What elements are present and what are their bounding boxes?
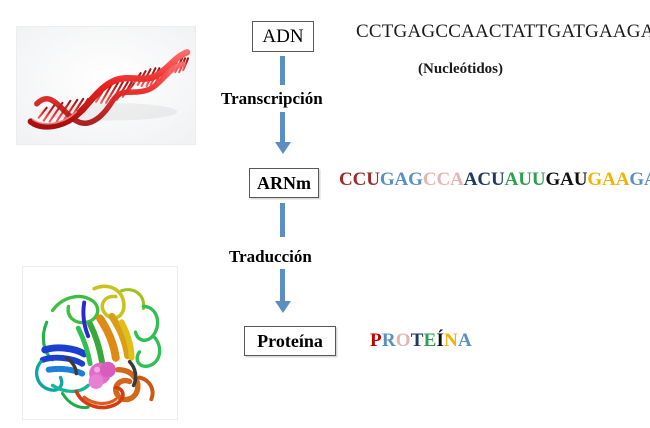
- translation-arrow-shaft-lower: [280, 269, 285, 303]
- node-box-adn[interactable]: ADN: [252, 21, 314, 52]
- mrna-codon-2: CCA: [423, 169, 464, 190]
- protein-letter-1: R: [382, 330, 396, 351]
- protein-letter-3: T: [411, 330, 424, 351]
- protein-colored-word: PROTEÍNA: [370, 331, 472, 350]
- protein-ribbon-illustration: [23, 267, 177, 419]
- protein-letter-7: A: [458, 330, 472, 351]
- mrna-codon-4: AUU: [505, 169, 546, 190]
- mrna-codon-6: GAA: [587, 169, 629, 190]
- mrna-codon-7: GAG: [629, 169, 650, 190]
- mrna-codon-0: CCU: [339, 169, 380, 190]
- dna-double-helix-photo: [16, 26, 196, 145]
- dna-nucleotide-sequence: CCTGAGCCAACTATTGATGAAGAG: [356, 22, 650, 41]
- nucleotidos-caption: (Nucleótidos): [418, 62, 503, 77]
- protein-letter-6: N: [444, 330, 458, 351]
- protein-letter-0: P: [370, 330, 382, 351]
- protein-letter-4: E: [424, 330, 437, 351]
- mrna-codon-sequence: CCUGAGCCAACUAUUGAUGAAGAG: [339, 170, 650, 189]
- mrna-codon-3: ACU: [464, 169, 505, 190]
- translation-arrow-head-icon: [275, 301, 291, 313]
- protein-letter-5: Í: [436, 330, 444, 351]
- step-label-transcripcion: Transcripción: [221, 90, 323, 107]
- translation-arrow-shaft-upper: [280, 203, 285, 237]
- protein-letter-2: O: [396, 330, 411, 351]
- node-box-proteina[interactable]: Proteína: [244, 326, 336, 356]
- node-box-arnm[interactable]: ARNm: [249, 168, 319, 198]
- transcription-arrow-shaft-lower: [280, 112, 285, 144]
- protein-ribbon-structure-photo: [22, 266, 178, 420]
- mrna-codon-1: GAG: [380, 169, 423, 190]
- transcription-arrow-shaft-upper: [280, 56, 285, 85]
- mrna-codon-5: GAU: [545, 169, 587, 190]
- step-label-traduccion: Traducción: [229, 248, 312, 265]
- transcription-arrow-head-icon: [275, 142, 291, 154]
- dna-helix-illustration: [17, 27, 195, 144]
